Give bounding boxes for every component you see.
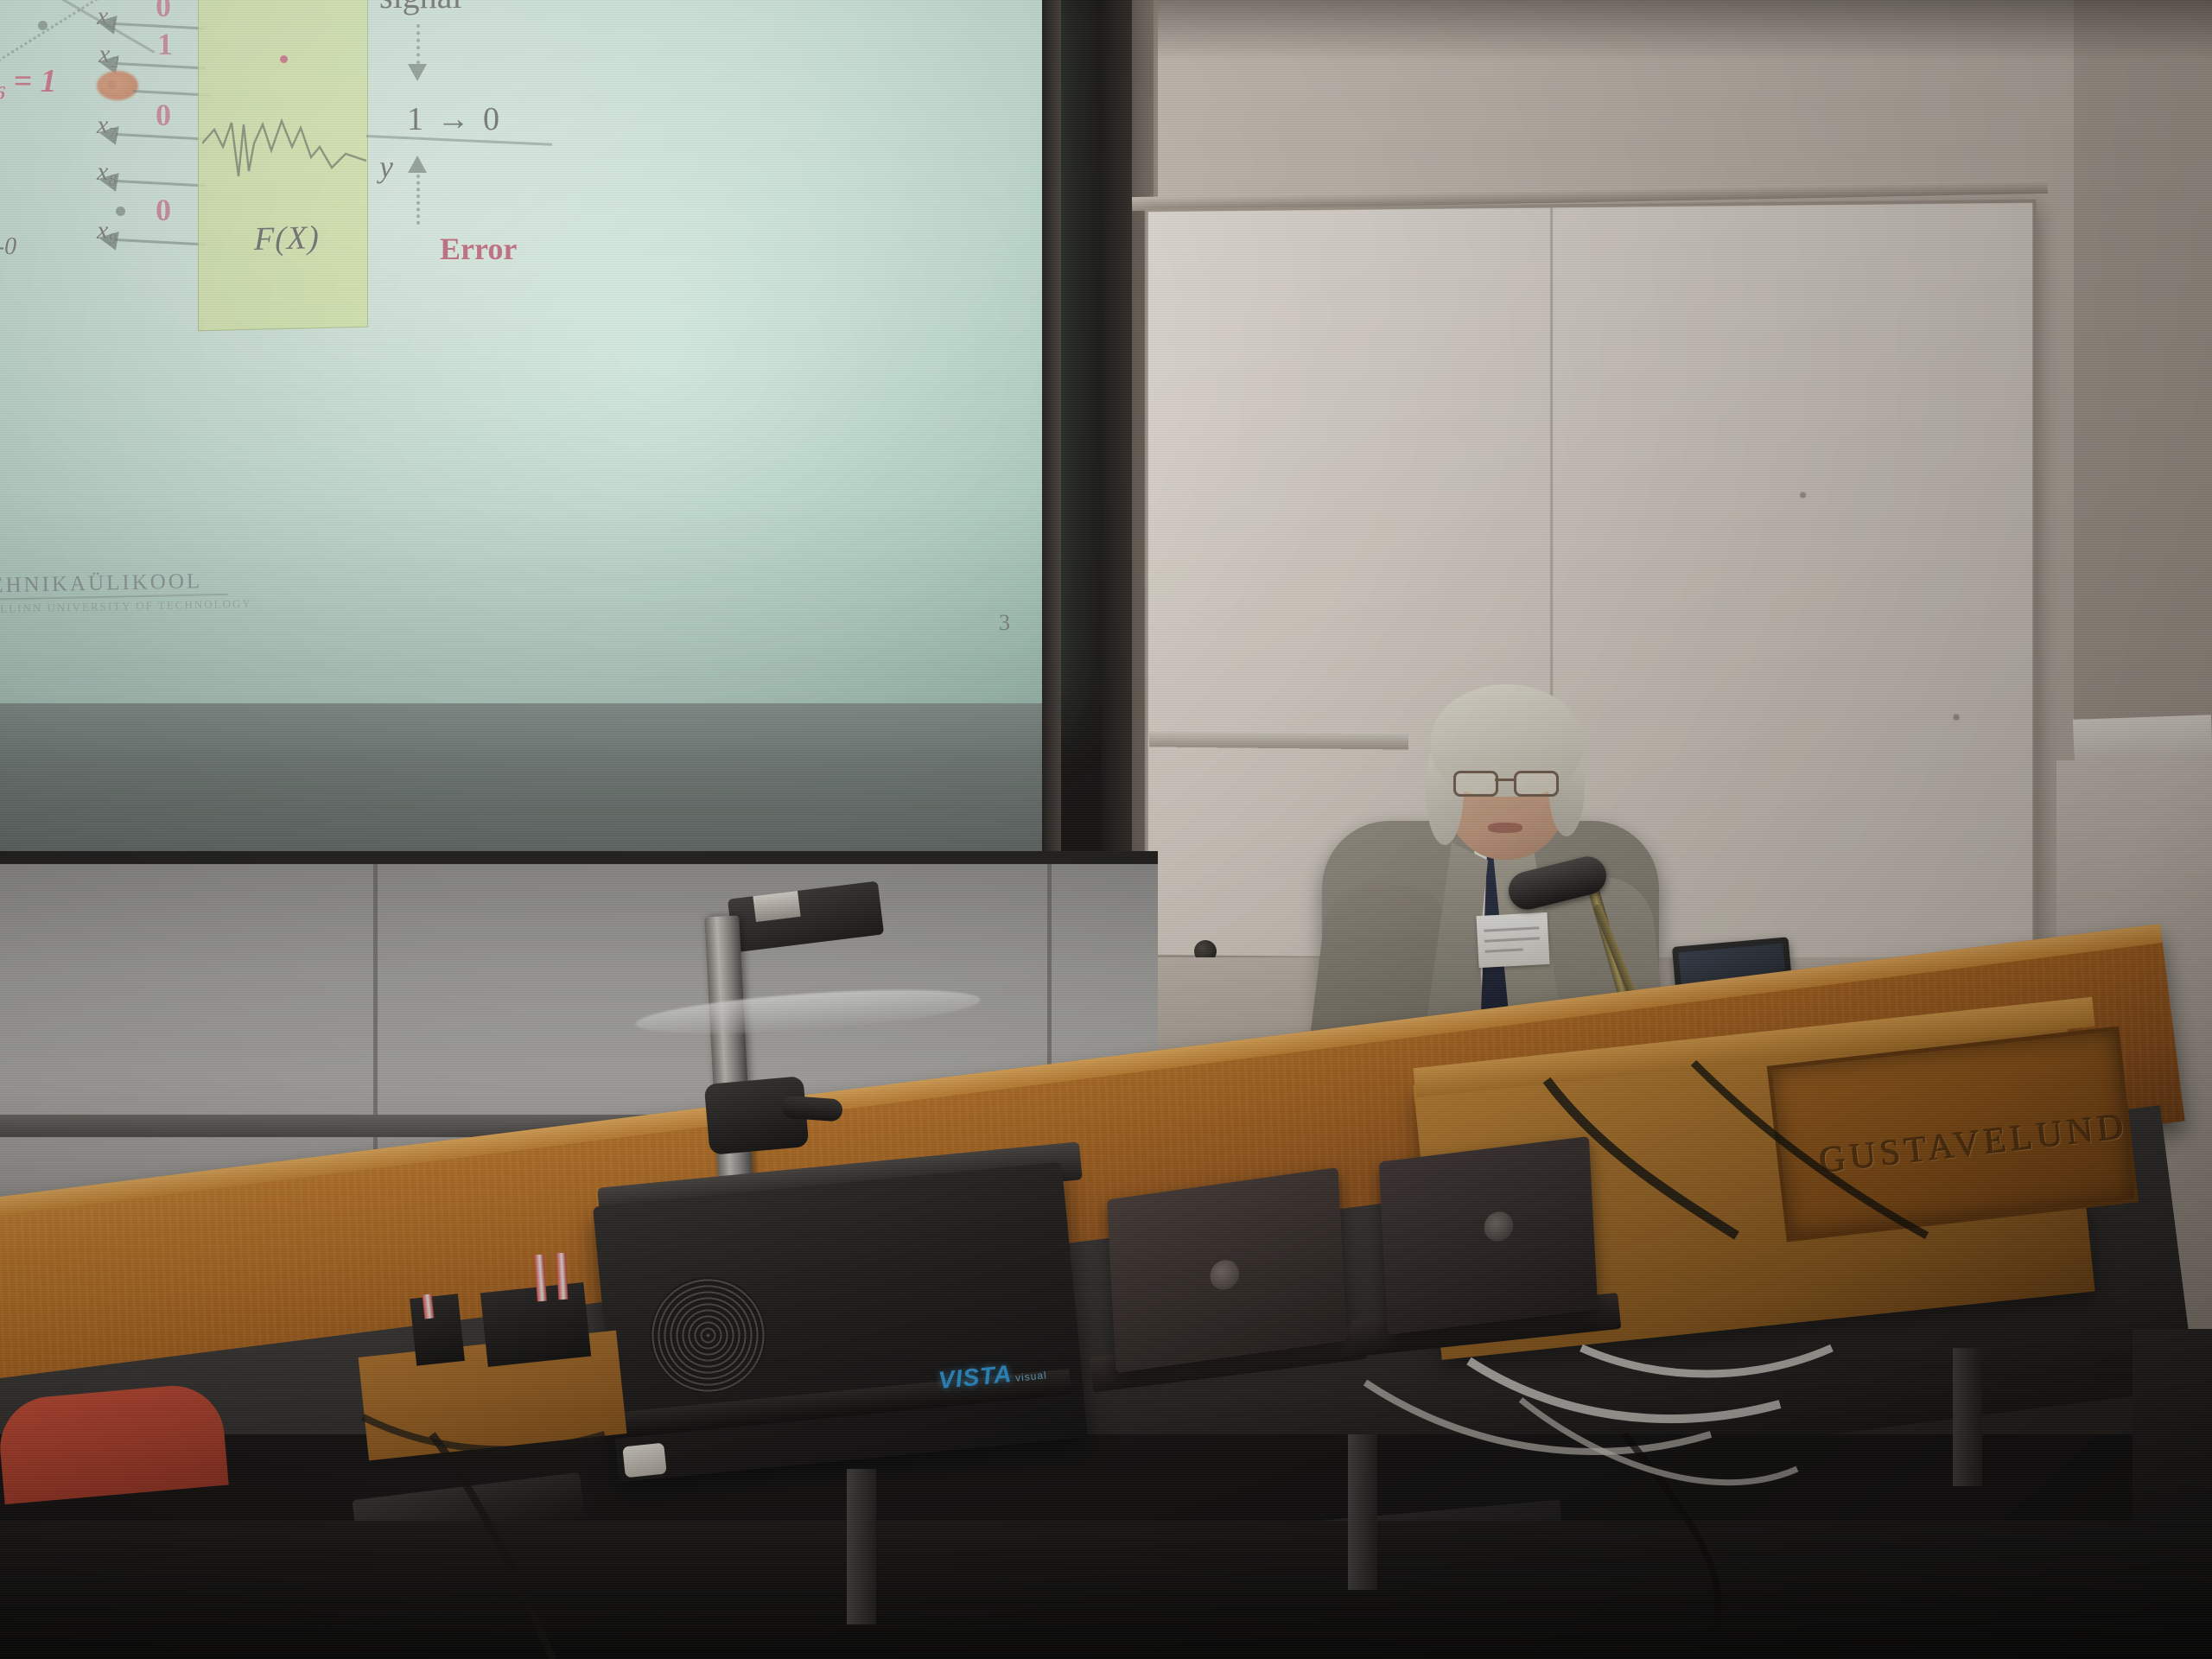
badge-text-line-3 (1485, 948, 1523, 952)
badge-text-line-1 (1484, 926, 1539, 931)
red-chair (0, 1382, 229, 1504)
screen-right-edge (1042, 0, 1061, 902)
name-badge (1476, 912, 1549, 968)
power-plug[interactable] (622, 1443, 667, 1478)
laptop-2-logo (1484, 1210, 1515, 1243)
whiteboard-dot-2 (1954, 714, 1960, 720)
screen-vignette (0, 0, 1046, 703)
laptop-1-lid[interactable] (1107, 1167, 1347, 1373)
glasses-bridge (1495, 779, 1514, 781)
bench-leg-1 (847, 1469, 876, 1624)
projection-screen-frame: x₁ 0 x₂ 1 x6 = 1 x₇ 0 x₈ 0 x₉ (0, 0, 1141, 916)
bench-leg-3 (1953, 1348, 1982, 1486)
pen-holder-right[interactable] (480, 1282, 591, 1367)
lens-right (1514, 771, 1559, 797)
laptop-2-lid[interactable] (1379, 1136, 1599, 1335)
bench-leg-2 (1348, 1434, 1377, 1590)
badge-text-line-2 (1484, 937, 1540, 942)
laptop-1-logo (1210, 1258, 1240, 1292)
lens-left (1453, 771, 1498, 797)
floor (0, 1521, 2212, 1659)
eyeglasses (1453, 771, 1560, 791)
ceiling-shadow (1115, 0, 2212, 60)
pen-holder-left[interactable] (410, 1294, 465, 1365)
overhead-projector-arm (781, 1096, 843, 1122)
mouth (1488, 823, 1522, 833)
lecture-photo-scene: x₁ 0 x₂ 1 x6 = 1 x₇ 0 x₈ 0 x₉ (0, 0, 2212, 1659)
projection-screen: x₁ 0 x₂ 1 x6 = 1 x₇ 0 x₈ 0 x₉ (0, 0, 1046, 703)
overhead-projector-lens (753, 891, 800, 922)
whiteboard-dot-1 (1800, 492, 1806, 498)
